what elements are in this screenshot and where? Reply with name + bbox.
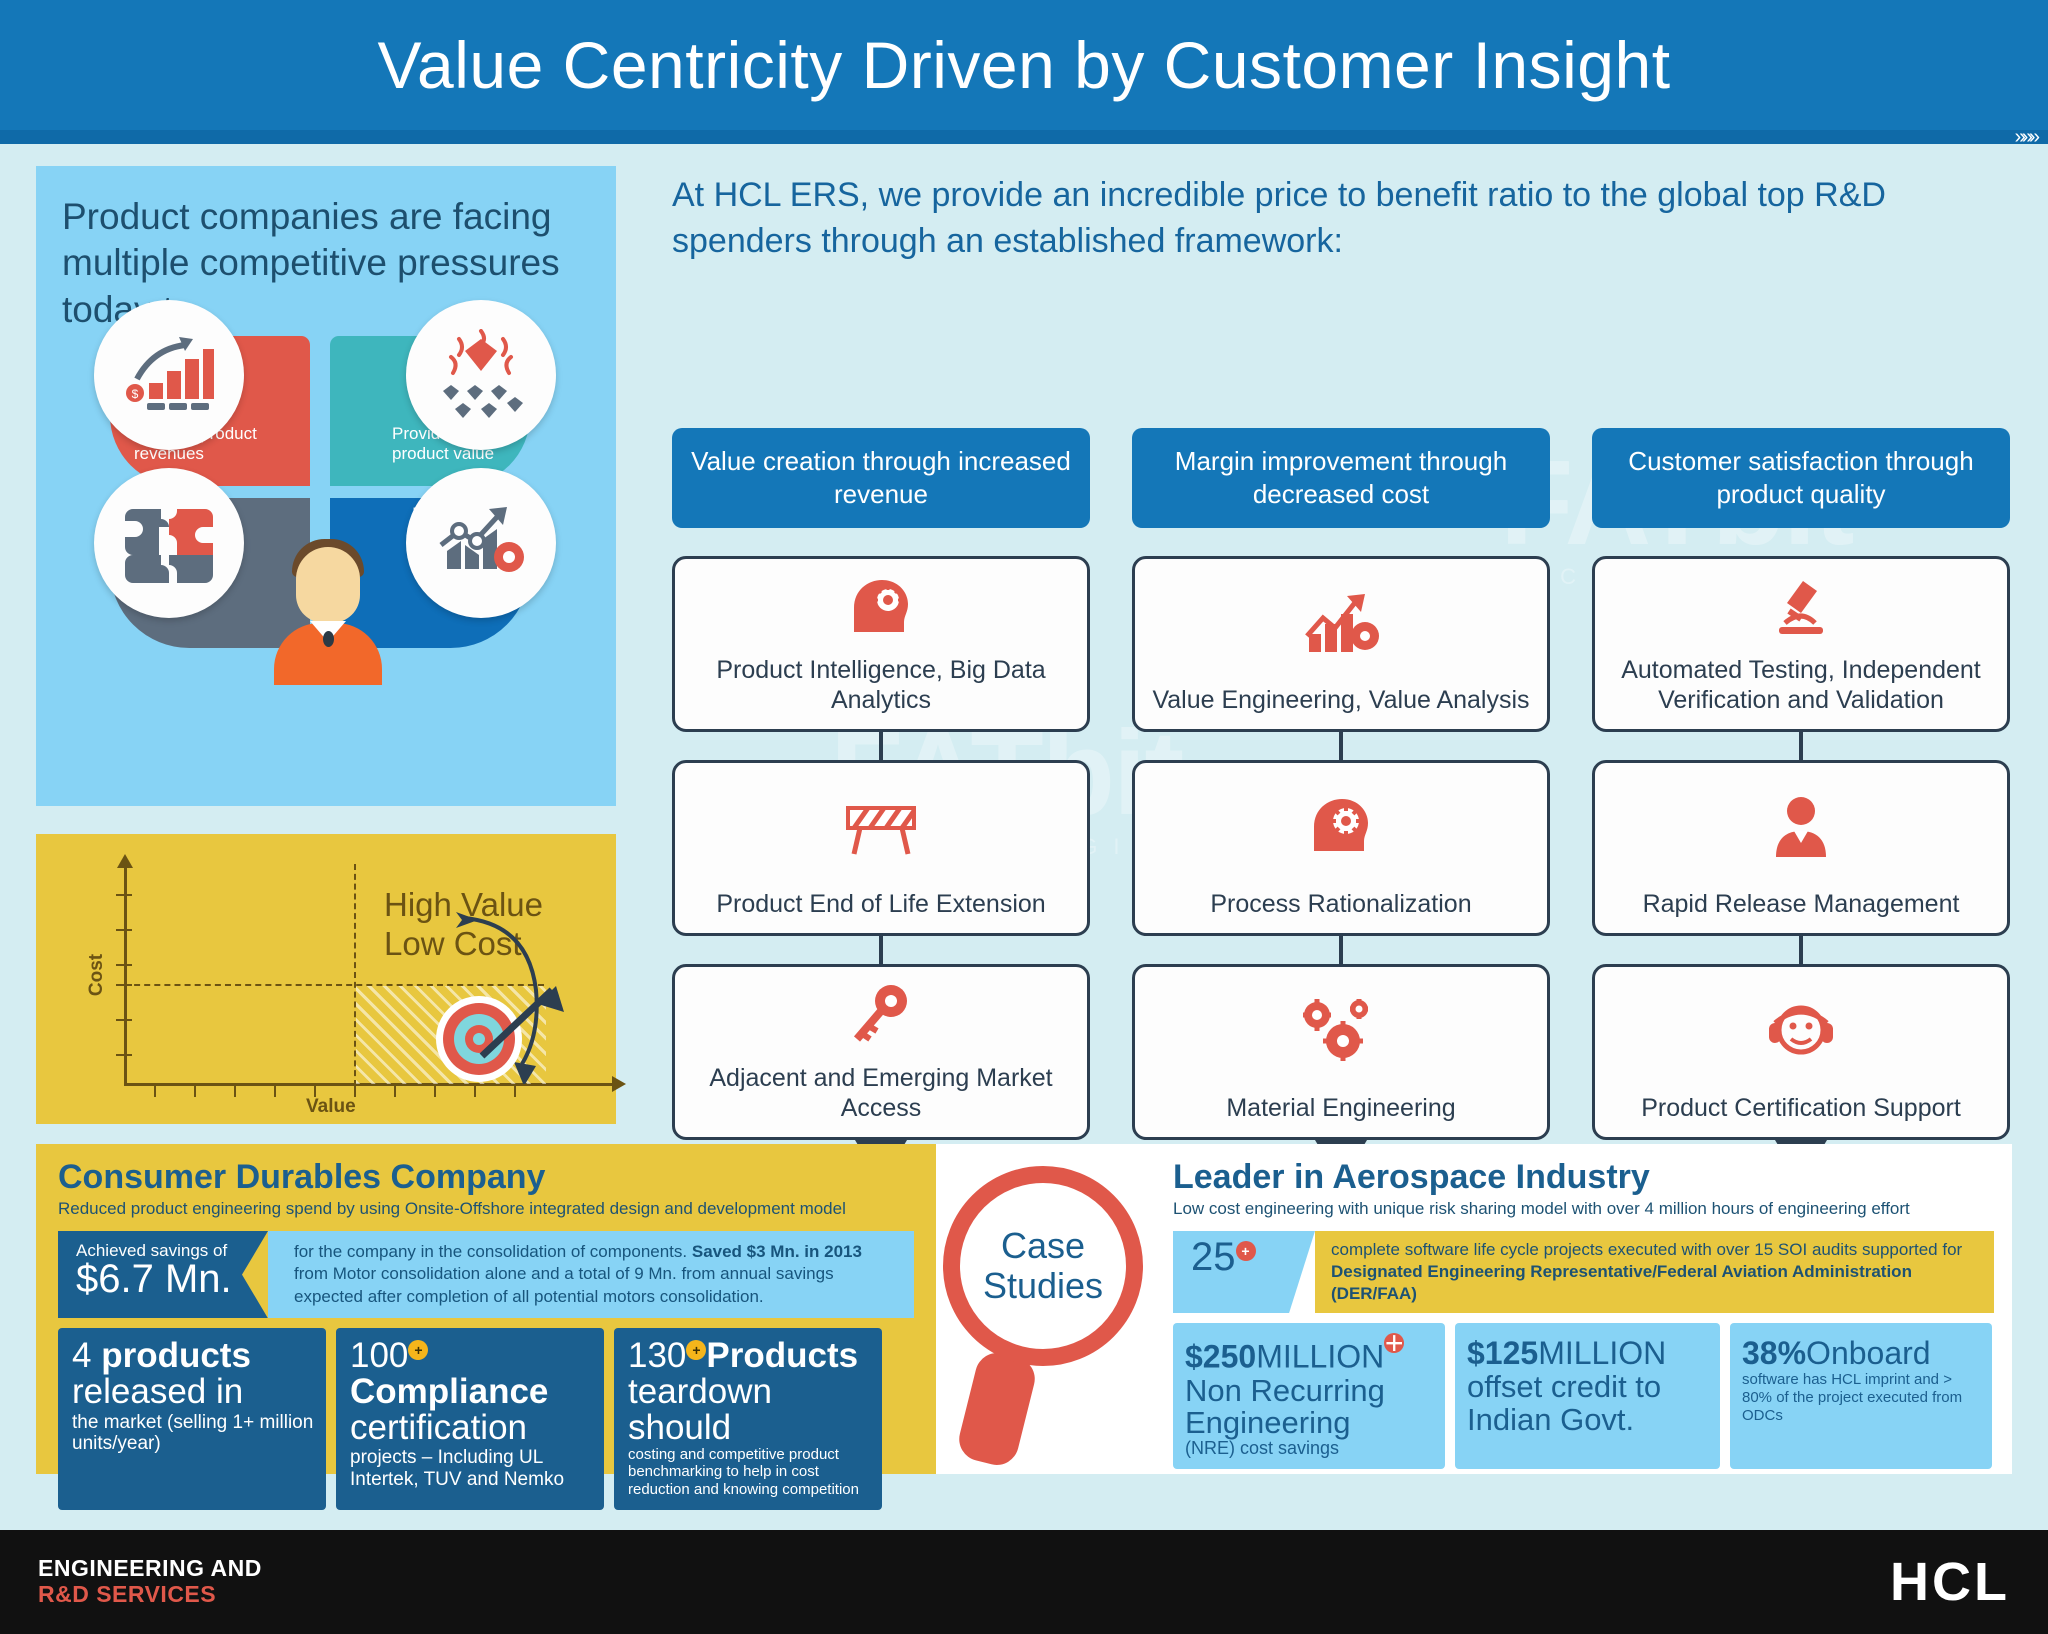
case-study-consumer-durables: Consumer Durables Company Reduced produc… bbox=[36, 1144, 936, 1474]
head-lightbulb-icon bbox=[848, 559, 914, 655]
framework-card[interactable]: Automated Testing, Independent Verificat… bbox=[1592, 556, 2010, 732]
aero-stat-line3: (NRE) cost savings bbox=[1185, 1439, 1433, 1459]
hcl-logo: HCL bbox=[1890, 1551, 2010, 1613]
microscope-icon bbox=[1769, 559, 1833, 655]
framework-card[interactable]: Rapid Release Management bbox=[1592, 760, 2010, 936]
stat-number: 130 bbox=[628, 1336, 686, 1375]
framework-card[interactable]: Value Engineering, Value Analysis bbox=[1132, 556, 1550, 732]
case-studies-label: CaseStudies bbox=[983, 1226, 1103, 1305]
main-canvas: FATbitTECHNOLOGIES FATbitTECHNOLOGIES FA… bbox=[0, 144, 2048, 1494]
value-cost-chart: Cost Value High ValueLow Cost bbox=[36, 834, 616, 1124]
plus-badge: + bbox=[686, 1340, 706, 1360]
page-header: Value Centricity Driven by Customer Insi… bbox=[0, 0, 2048, 130]
revenue-growth-icon: $ bbox=[94, 300, 244, 450]
card-label: Process Rationalization bbox=[1196, 889, 1485, 919]
aero-stat-value: $250 bbox=[1185, 1339, 1256, 1375]
framework-card[interactable]: Adjacent and Emerging Market Access bbox=[672, 964, 1090, 1140]
column-header[interactable]: Value creation through increased revenue bbox=[672, 428, 1090, 528]
aero-stat-unit: Onboard bbox=[1806, 1335, 1931, 1371]
stat-word: Products bbox=[706, 1336, 858, 1375]
card-connector bbox=[1799, 936, 1803, 964]
chart-xlabel: Value bbox=[306, 1096, 356, 1118]
column-header[interactable]: Margin improvement through decreased cos… bbox=[1132, 428, 1550, 528]
case-subtitle: Low cost engineering with unique risk sh… bbox=[1173, 1199, 1994, 1219]
aero-stat-line3: software has HCL imprint and > 80% of th… bbox=[1742, 1371, 1980, 1424]
page-title: Value Centricity Driven by Customer Insi… bbox=[377, 27, 1670, 103]
stat-card[interactable]: 130+Products teardown should costing and… bbox=[614, 1328, 882, 1509]
card-label: Product Intelligence, Big Data Analytics bbox=[675, 655, 1087, 715]
dart-arrow-icon bbox=[448, 984, 568, 1084]
framework-card[interactable]: Process Rationalization bbox=[1132, 760, 1550, 936]
user-avatar-icon bbox=[268, 531, 388, 681]
savings-text-1: for the company in the consolidation of … bbox=[294, 1242, 692, 1261]
aero-stat-card[interactable]: $250MILLION+ Non Recurring Engineering (… bbox=[1173, 1323, 1445, 1469]
aero-text-bold: Designated Engineering Representative/Fe… bbox=[1331, 1262, 1912, 1303]
stat-line3: costing and competitive product benchmar… bbox=[628, 1446, 870, 1497]
case-title: Leader in Aerospace Industry bbox=[1173, 1158, 1994, 1197]
header-accent-stripe: »»» bbox=[0, 130, 2048, 144]
magnifier-ring: CaseStudies bbox=[943, 1166, 1143, 1366]
chart-quadrant-v bbox=[354, 864, 356, 1086]
aero-stat-line2: offset credit to Indian Govt. bbox=[1467, 1371, 1708, 1435]
card-label: Rapid Release Management bbox=[1629, 889, 1974, 919]
savings-text-2: from Motor consolidation alone and a tot… bbox=[294, 1264, 834, 1305]
ers-line2: R&D SERVICES bbox=[38, 1581, 216, 1607]
barrier-icon bbox=[844, 763, 918, 889]
magnifier-handle bbox=[955, 1348, 1040, 1469]
ers-logo: ENGINEERING AND R&D SERVICES bbox=[38, 1556, 262, 1608]
stat-line3: projects – Including UL Intertek, TUV an… bbox=[350, 1447, 592, 1490]
card-connector bbox=[1799, 732, 1803, 760]
chart-gear-icon bbox=[1303, 559, 1379, 685]
card-label: Automated Testing, Independent Verificat… bbox=[1595, 655, 2007, 715]
card-connector bbox=[1339, 732, 1343, 760]
card-label: Material Engineering bbox=[1212, 1093, 1469, 1123]
aero-stat-line2: Non Recurring Engineering bbox=[1185, 1375, 1433, 1439]
chart-gear-icon bbox=[406, 468, 556, 618]
card-label: Product Certification Support bbox=[1627, 1093, 1975, 1123]
diamond-value-icon bbox=[406, 300, 556, 450]
puzzle-icon bbox=[94, 468, 244, 618]
key-icon bbox=[851, 967, 911, 1063]
aero-stat-value: 38% bbox=[1742, 1335, 1806, 1371]
aero-stat-value: $125 bbox=[1467, 1335, 1538, 1371]
savings-badge-value: $6.7 Mn. bbox=[76, 1259, 234, 1299]
savings-description: for the company in the consolidation of … bbox=[268, 1231, 914, 1318]
card-label: Product End of Life Extension bbox=[702, 889, 1059, 919]
competitive-pressures-panel: Product companies are facing multiple co… bbox=[36, 166, 616, 806]
framework-card[interactable]: Product Certification Support bbox=[1592, 964, 2010, 1140]
savings-text-bold: Saved $3 Mn. in 2013 bbox=[692, 1242, 862, 1261]
savings-badge: Achieved savings of $6.7 Mn. bbox=[58, 1231, 268, 1318]
stat-card[interactable]: 4 products released in the market (selli… bbox=[58, 1328, 326, 1509]
chart-ylabel: Cost bbox=[86, 954, 108, 996]
stat-number: 100 bbox=[350, 1336, 408, 1375]
aero-badge-value: 25+ bbox=[1173, 1231, 1315, 1313]
plus-badge: + bbox=[408, 1340, 428, 1360]
framework-card[interactable]: Product End of Life Extension bbox=[672, 760, 1090, 936]
stat-line3: the market (selling 1+ million units/yea… bbox=[72, 1412, 314, 1455]
stat-word: products bbox=[101, 1336, 251, 1375]
card-connector bbox=[879, 936, 883, 964]
page-footer: ENGINEERING AND R&D SERVICES HCL bbox=[0, 1530, 2048, 1634]
business-person-icon bbox=[1772, 763, 1830, 889]
card-connector bbox=[879, 732, 883, 760]
pressures-wheel: Improve product revenues Provide better … bbox=[62, 306, 590, 796]
column-header[interactable]: Customer satisfaction through product qu… bbox=[1592, 428, 2010, 528]
stat-line2: released in bbox=[72, 1374, 314, 1410]
case-study-aerospace: Leader in Aerospace Industry Low cost en… bbox=[1161, 1144, 2012, 1474]
case-studies-section: Consumer Durables Company Reduced produc… bbox=[36, 1144, 2012, 1474]
aero-stat-unit: MILLION bbox=[1256, 1339, 1384, 1375]
stat-line2: teardown should bbox=[628, 1374, 870, 1445]
card-label: Value Engineering, Value Analysis bbox=[1138, 685, 1543, 715]
framework-intro: At HCL ERS, we provide an incredible pri… bbox=[672, 172, 2002, 264]
card-label: Adjacent and Emerging Market Access bbox=[675, 1063, 1087, 1123]
plus-badge: + bbox=[1384, 1333, 1404, 1353]
chart-y-axis bbox=[124, 866, 127, 1086]
aero-badge-description: complete software life cycle projects ex… bbox=[1315, 1231, 1994, 1313]
framework-card[interactable]: Product Intelligence, Big Data Analytics bbox=[672, 556, 1090, 732]
stat-word: Compliance bbox=[350, 1372, 548, 1411]
aero-stat-card[interactable]: $125MILLION offset credit to Indian Govt… bbox=[1455, 1323, 1720, 1469]
headset-support-icon bbox=[1767, 967, 1835, 1093]
stat-line2: certification bbox=[350, 1410, 592, 1446]
gears-icon bbox=[1301, 967, 1381, 1093]
head-gear-icon bbox=[1308, 763, 1374, 889]
case-title: Consumer Durables Company bbox=[58, 1158, 914, 1197]
plus-badge: + bbox=[1236, 1241, 1256, 1261]
stat-number: 4 bbox=[72, 1336, 91, 1375]
stat-card[interactable]: 100+Compliance certification projects – … bbox=[336, 1328, 604, 1509]
card-connector bbox=[1339, 936, 1343, 964]
ers-line1: ENGINEERING AND bbox=[38, 1556, 262, 1582]
case-subtitle: Reduced product engineering spend by usi… bbox=[58, 1199, 914, 1219]
aero-stat-unit: MILLION bbox=[1538, 1335, 1666, 1371]
svg-text:$: $ bbox=[132, 387, 139, 401]
framework-card[interactable]: Material Engineering bbox=[1132, 964, 1550, 1140]
aero-stat-card[interactable]: 38%Onboard software has HCL imprint and … bbox=[1730, 1323, 1992, 1469]
aero-text-1: complete software life cycle projects ex… bbox=[1331, 1240, 1962, 1259]
magnifier-icon: CaseStudies bbox=[921, 1158, 1171, 1468]
